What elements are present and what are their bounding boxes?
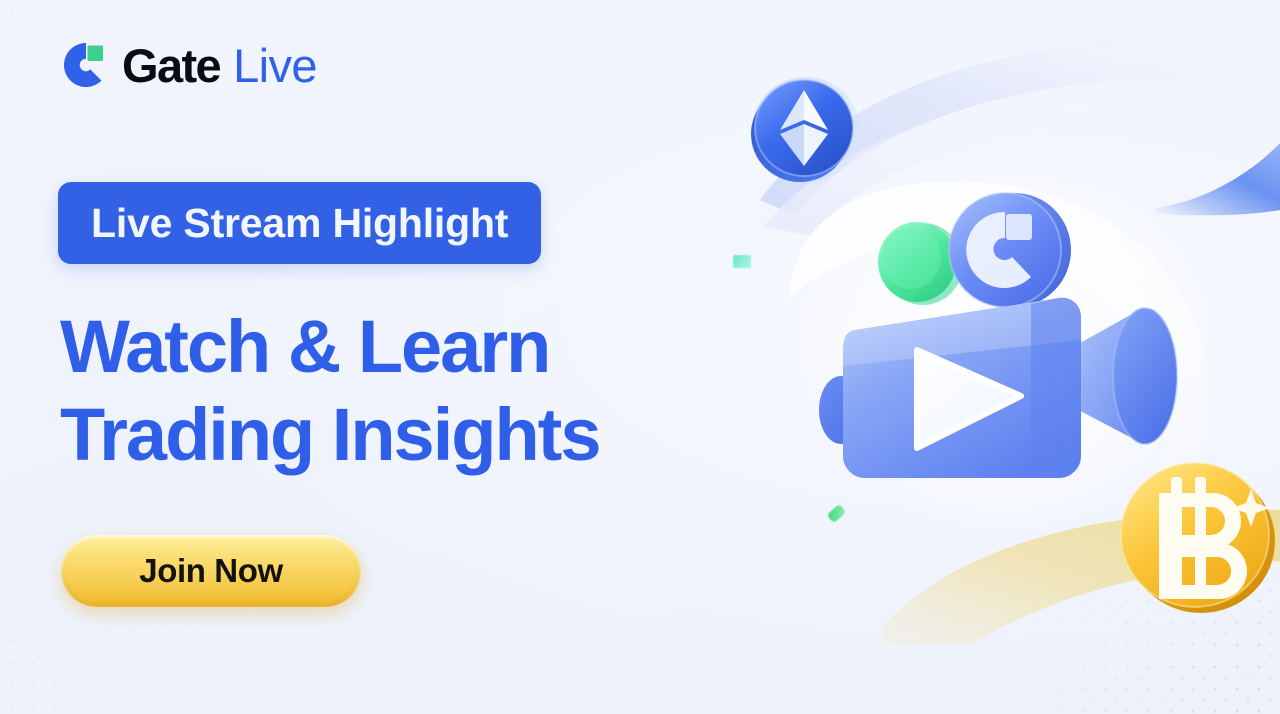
gate-logo-mark [61,40,111,90]
status-badge: Live Stream Highlight [58,182,541,264]
headline-line-1: Watch & Learn [60,303,750,391]
brand-logo[interactable]: Gate Live [61,40,317,90]
logo-brand-text: Gate [122,42,220,89]
logo-product-text: Live [233,42,317,89]
ethereum-coin [744,68,864,190]
camera-reel-gate-logo [949,193,1071,307]
banner-content: Gate Live Live Stream Highlight Watch & … [58,0,758,714]
page-title: Watch & Learn Trading Insights [60,303,750,479]
join-now-button[interactable]: Join Now [61,535,361,607]
illustration [700,0,1280,714]
bitcoin-coin [1115,455,1280,620]
gate-live-promo-banner: Gate Live Live Stream Highlight Watch & … [0,0,1280,714]
headline-line-2: Trading Insights [60,391,750,479]
camera-lens [1071,308,1177,444]
